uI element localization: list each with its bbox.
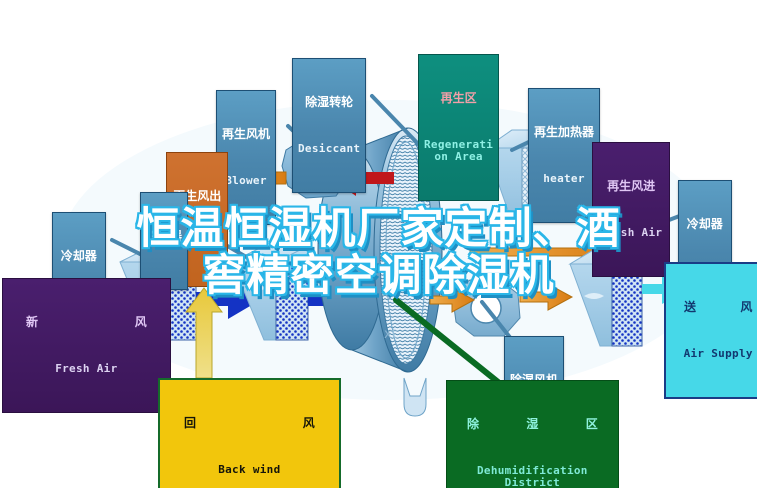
label-dehumidification-district: 除 湿 区 Dehumidification District [446,380,619,488]
label-cn: 除 湿 区 [454,418,611,431]
label-regeneration-area: 再生区 Regenerati on Area [418,54,499,201]
label-cn: 送 风 [672,301,757,314]
label-cn: 回 风 [166,417,333,430]
label-cn: 冷却器 [684,218,726,231]
label-cn: 冷却器 [58,250,100,263]
label-en: Back wind [166,464,333,476]
diagram-canvas: xt [0,0,757,488]
label-cn: 除湿转轮 [298,96,360,109]
label-desiccant-rotor: 除湿转轮 Desiccant [292,58,366,193]
label-fresh-air-intake: 新 风 Fresh Air [2,278,171,413]
label-cn: 再生加热器 [534,126,594,139]
label-en: heater [534,173,594,185]
rotor-faint-text: xt [384,327,397,342]
label-cn: 再生风机 [222,128,270,141]
label-cooler-left-inner: 冷却器 [140,192,188,290]
label-en: Fresh Air [10,363,163,375]
label-en: Regenerati on Area [424,139,493,163]
label-regeneration-fresh-air: 再生风进 Fresh Air [592,142,670,277]
label-en: Air Supply [672,348,757,360]
label-back-wind: 回 风 Back wind [158,378,341,488]
label-cn: 再生区 [424,92,493,105]
label-cn: 冷却器 [146,230,182,243]
label-en: Dehumidification District [454,465,611,488]
label-en: Fresh Air [600,227,662,239]
label-cn: 再生风进 [600,180,662,193]
label-en: Desiccant [298,143,360,155]
label-air-supply: 送 风 Air Supply [664,262,757,399]
label-en: Blower [222,175,270,187]
label-regeneration-heater: 再生加热器 heater [528,88,600,223]
label-cn: 新 风 [10,316,163,329]
